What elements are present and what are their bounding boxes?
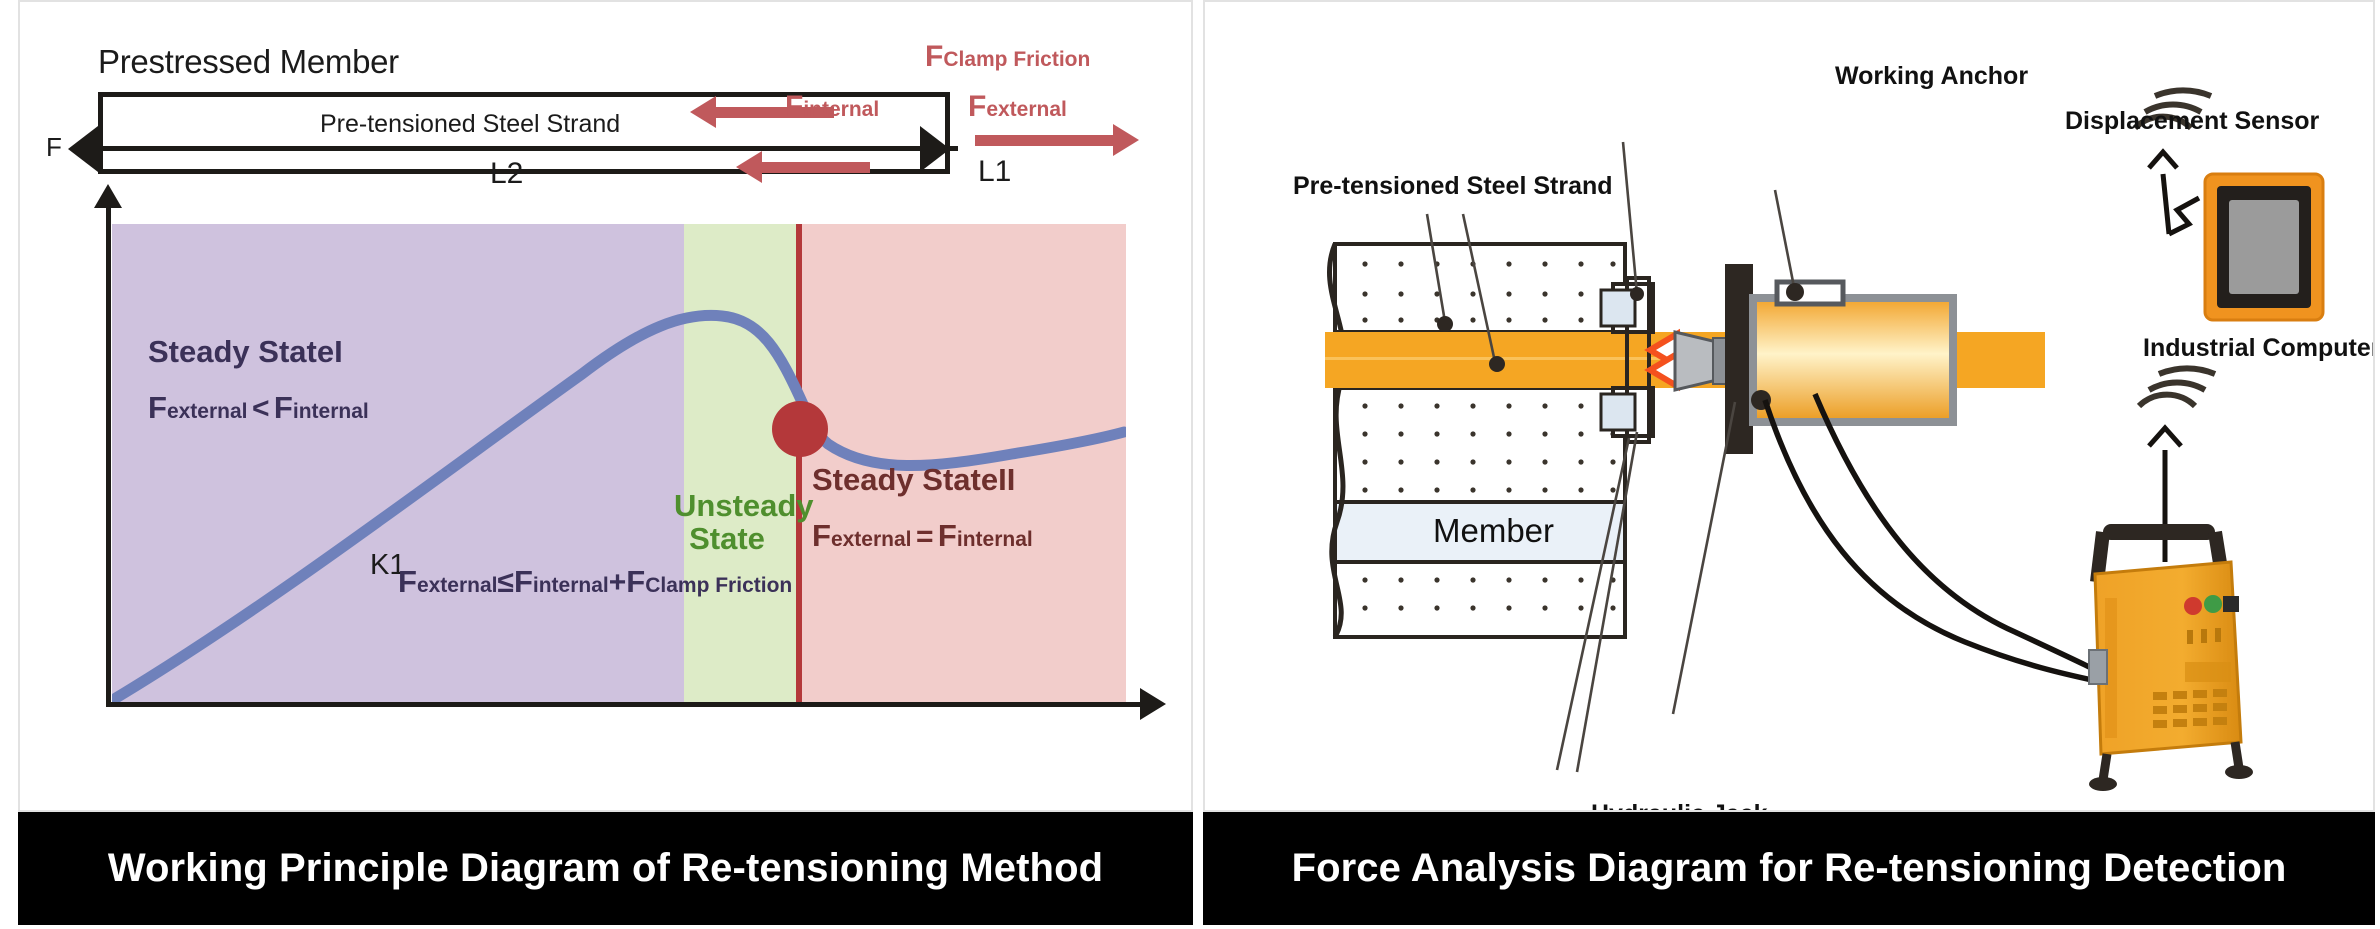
- clamp-friction-arrow-icon: [760, 162, 870, 173]
- left-force-label: F: [46, 132, 62, 163]
- retensioning-plot: Steady StateI Fexternal < Finternal K1 U…: [98, 224, 1126, 734]
- unsteady-state-equation: Fexternal≤Finternal+FClamp Friction: [398, 564, 792, 600]
- right-caption-text: Force Analysis Diagram for Re-tensioning…: [1292, 846, 2287, 891]
- region-title: Steady State: [812, 462, 998, 497]
- x-axis-arrow-icon: [1140, 688, 1166, 720]
- callout-member: Member: [1433, 512, 1554, 550]
- eq-lhs-symbol: F: [812, 518, 831, 553]
- internal-force-label: Finternal: [785, 90, 879, 124]
- eq-lhs-symbol: F: [148, 390, 167, 425]
- left-anchor-wedge-icon: [68, 126, 98, 172]
- eq-lhs-sub: external: [831, 528, 912, 551]
- steady-state-1-equation: Fexternal < Finternal: [148, 390, 369, 426]
- hydraulic-hoses: [1765, 394, 2113, 684]
- callout-pre-tensioned-steel-strand: Pre-tensioned Steel Strand: [1293, 172, 1613, 201]
- y-axis: [106, 204, 111, 704]
- eq-operator: ≤: [497, 566, 513, 599]
- f-subscript: external: [986, 98, 1067, 121]
- eq-rhs-sub: internal: [957, 528, 1033, 551]
- eq-plus: +: [609, 566, 627, 599]
- left-figure-panel: Prestressed Member Pre-tensioned Steel S…: [18, 0, 1193, 929]
- f-symbol: F: [968, 90, 986, 123]
- eq-operator: =: [916, 520, 934, 553]
- eq-rhs-sub: internal: [293, 400, 369, 423]
- eq-operator: <: [252, 392, 270, 425]
- callout-displacement-sensor: Displacement Sensor: [2065, 107, 2319, 136]
- callout-hydraulic-jack: Hydraulic Jack: [1591, 800, 1768, 812]
- f-subscript: Clamp Friction: [943, 48, 1090, 71]
- right-anchor-wedge-icon: [920, 126, 950, 172]
- left-caption-text: Working Principle Diagram of Re-tensioni…: [108, 846, 1103, 891]
- steady-state-2-title: Steady StateII: [812, 462, 1015, 498]
- x-axis: [106, 702, 1146, 707]
- hydraulic-pump-console-graphic: [2089, 368, 2253, 791]
- hydraulic-jack-graphic: [1725, 264, 1953, 454]
- region-roman: I: [334, 334, 343, 369]
- clamp-friction-force-label: FClamp Friction: [925, 40, 1090, 74]
- callout-industrial-computer: Industrial Computer: [2143, 334, 2375, 363]
- eq-rhs-sub: internal: [533, 574, 609, 597]
- figure-pair: Prestressed Member Pre-tensioned Steel S…: [0, 0, 2380, 929]
- strand-label: Pre-tensioned Steel Strand: [320, 110, 620, 139]
- transition-point-marker: [772, 401, 828, 457]
- eq-rhs-symbol: F: [274, 390, 293, 425]
- eq-lhs-sub: external: [417, 574, 498, 597]
- eq-lhs-sub: external: [167, 400, 248, 423]
- left-figure-canvas: Prestressed Member Pre-tensioned Steel S…: [18, 0, 1193, 812]
- steady-state-1-title: Steady StateI: [148, 334, 343, 370]
- region-title: Steady State: [148, 334, 334, 369]
- region-roman: II: [998, 462, 1015, 497]
- right-caption-bar: Force Analysis Diagram for Re-tensioning…: [1203, 812, 2375, 925]
- length-l2-label: L2: [490, 157, 523, 191]
- eq-rhs2-symbol: F: [626, 564, 645, 599]
- prestressed-member-title: Prestressed Member: [98, 43, 399, 81]
- jack-nose-graphic: [1675, 332, 1727, 390]
- concrete-member-graphic: [1329, 244, 1625, 637]
- eq-lhs-symbol: F: [398, 564, 417, 599]
- steady-state-2-equation: Fexternal = Finternal: [812, 518, 1033, 554]
- right-figure-canvas: Working Anchor Displacement Sensor Pre-t…: [1203, 0, 2375, 812]
- eq-rhs-symbol: F: [514, 564, 533, 599]
- left-caption-bar: Working Principle Diagram of Re-tensioni…: [18, 812, 1193, 925]
- callout-working-anchor: Working Anchor: [1835, 62, 2028, 91]
- strand-axis-line: [80, 146, 958, 151]
- external-force-arrow-icon: [975, 135, 1115, 146]
- right-figure-panel: Working Anchor Displacement Sensor Pre-t…: [1203, 0, 2375, 929]
- unsteady-state-title: Unsteady State: [674, 490, 780, 555]
- f-symbol: F: [785, 90, 803, 123]
- length-l1-label: L1: [978, 155, 1011, 189]
- eq-rhs2-sub: Clamp Friction: [645, 574, 792, 597]
- f-symbol: F: [925, 40, 943, 73]
- f-subscript: internal: [803, 98, 879, 121]
- eq-rhs-symbol: F: [938, 518, 957, 553]
- external-force-label: Fexternal: [968, 90, 1067, 124]
